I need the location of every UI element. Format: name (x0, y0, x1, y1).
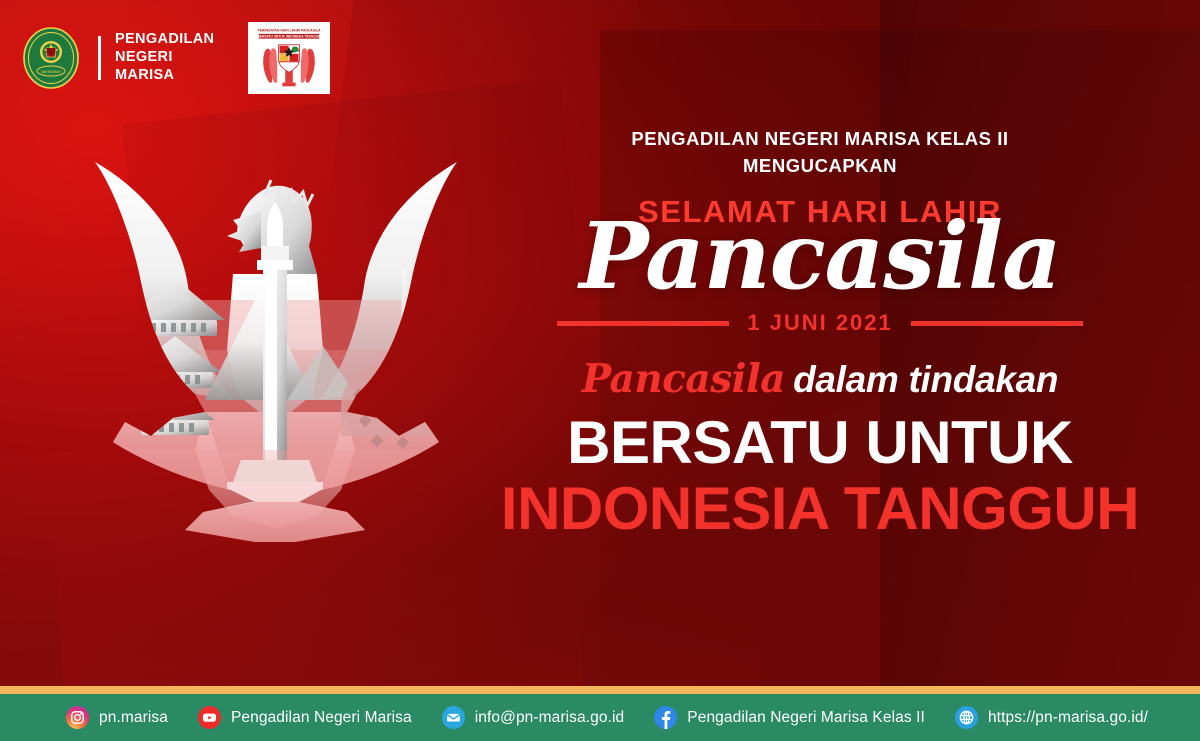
instagram-icon (66, 706, 89, 729)
date-rule-left (557, 321, 729, 326)
footer-item-website[interactable]: https://pn-marisa.go.id/ (955, 706, 1148, 729)
page-title: Pancasila (470, 213, 1170, 300)
tagline-rest: dalam tindakan (793, 359, 1058, 400)
footer-item-email[interactable]: info@pn-marisa.go.id (442, 706, 625, 729)
footer-label-facebook: Pengadilan Negeri Marisa Kelas II (687, 709, 925, 727)
pancasila-day-banner: MAHKAMAH PENGADILAN NEGERI MARISA PERING… (0, 0, 1200, 741)
court-name-label: PENGADILAN NEGERI MARISA (115, 31, 214, 84)
footer-item-instagram[interactable]: pn.marisa (66, 706, 168, 729)
footer-label-instagram: pn.marisa (99, 709, 168, 727)
footer-label-email: info@pn-marisa.go.id (475, 709, 625, 727)
tagline: Pancasiladalam tindakan (470, 360, 1170, 399)
date-line: 1 JUNI 2021 (470, 310, 1170, 336)
email-icon (442, 706, 465, 729)
footer-item-facebook[interactable]: Pengadilan Negeri Marisa Kelas II (654, 706, 925, 729)
pancasila-day-logo-icon: PERINGATAN HARI LAHIR PANCASILA BERSATU … (248, 22, 330, 94)
kicker-line-2: MENGUCAPKAN (470, 153, 1170, 180)
header-divider (98, 36, 101, 80)
svg-text:PERINGATAN HARI LAHIR PANCASIL: PERINGATAN HARI LAHIR PANCASILA (258, 29, 321, 33)
date-rule-right (911, 321, 1083, 326)
footer-label-website: https://pn-marisa.go.id/ (988, 709, 1148, 727)
banner-header: MAHKAMAH PENGADILAN NEGERI MARISA PERING… (22, 22, 330, 94)
kicker-line-1: PENGADILAN NEGERI MARISA KELAS II (470, 126, 1170, 153)
footer-label-youtube: Pengadilan Negeri Marisa (231, 709, 412, 727)
youtube-icon (198, 706, 221, 729)
gold-strip (0, 686, 1200, 694)
svg-text:MAHKAMAH: MAHKAMAH (41, 70, 61, 74)
tagline-script-word: Pancasila (582, 356, 785, 402)
banner-footer: pn.marisa Pengadilan Negeri Marisa info@… (0, 694, 1200, 741)
website-globe-icon (955, 706, 978, 729)
garuda-eagle-icon (55, 150, 495, 550)
footer-item-youtube[interactable]: Pengadilan Negeri Marisa (198, 706, 412, 729)
svg-text:BERSATU UNTUK INDONESIA TANGGU: BERSATU UNTUK INDONESIA TANGGUH (258, 35, 321, 39)
slogan-line-1: BERSATU UNTUK (470, 411, 1170, 475)
slogan-line-2: INDONESIA TANGGUH (470, 477, 1170, 541)
court-seal-icon: MAHKAMAH (22, 27, 80, 89)
date-text: 1 JUNI 2021 (747, 310, 893, 336)
banner-content: PENGADILAN NEGERI MARISA KELAS II MENGUC… (470, 126, 1170, 540)
facebook-icon (654, 706, 677, 729)
